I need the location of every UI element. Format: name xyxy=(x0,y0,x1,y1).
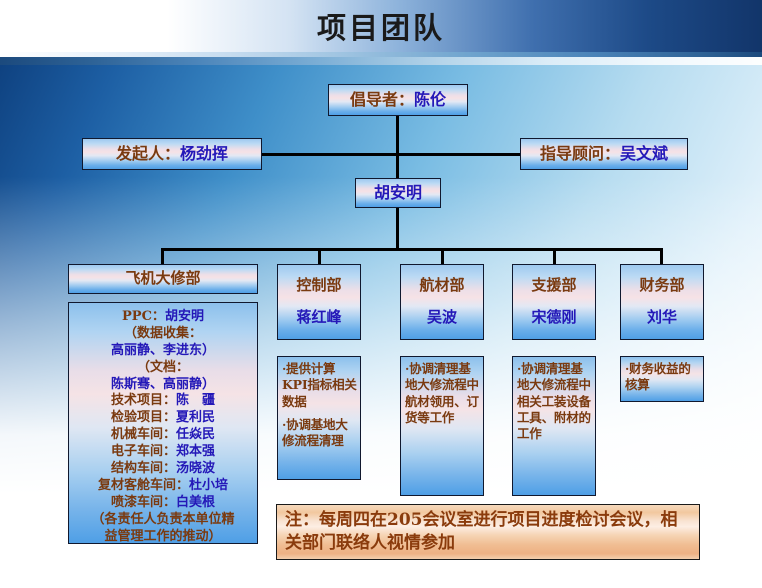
roster-line: 复材客舱车间：杜小培 xyxy=(73,478,253,495)
dept-header-aircraft[interactable]: 飞机大修部 xyxy=(68,264,258,294)
node-sponsor[interactable]: 发起人：杨劲挥 xyxy=(82,138,262,170)
bullet-item: ·财务收益的核算 xyxy=(625,361,700,394)
roster-line: （各责任人负责本单位精 xyxy=(73,512,253,529)
sponsor-name: 杨劲挥 xyxy=(180,144,228,163)
roster-label: （文档： xyxy=(137,360,189,375)
dept-header-control[interactable]: 控制部 蒋红峰 xyxy=(277,264,361,340)
project-manager-name: 胡安明 xyxy=(374,184,422,203)
slide-canvas: 项目团队 倡导者：陈伦 发起人：杨劲挥 指导顾问：吴文斌 胡安明 飞机大修部 控 xyxy=(0,0,762,588)
dept-name-support: 支援部 xyxy=(531,277,576,295)
roster-line: 高丽静、李进东） xyxy=(73,343,253,360)
roster-label: （数据收集： xyxy=(124,326,202,341)
roster-line: 电子车间：郑本强 xyxy=(73,444,253,461)
roster-value: 陈 疆 xyxy=(176,393,215,408)
roster-label: （各责任人负责本单位精 xyxy=(91,512,234,527)
dept-bullets-support: ·协调清理基地大修流程中相关工装设备工具、附材的工作 xyxy=(512,356,596,496)
roster-value: 任焱民 xyxy=(176,427,215,442)
note-box: 注：每周四在205会议室进行项目进度检讨会议，相关部门联络人视情参加 xyxy=(276,504,700,560)
connector-drop-aircraft xyxy=(161,248,164,264)
roster-line: 陈斯骞、高丽静） xyxy=(73,377,253,394)
roster-line: PPC：胡安明 xyxy=(73,309,253,326)
dept-name-finance: 财务部 xyxy=(639,277,684,295)
dept-lead-finance: 刘华 xyxy=(647,309,677,327)
roster-line: 结构车间：汤晓波 xyxy=(73,461,253,478)
roster-line: （文档： xyxy=(73,360,253,377)
connector-drop-finance xyxy=(660,248,663,264)
roster-value: 白美根 xyxy=(176,495,215,510)
roster-value: 郑本强 xyxy=(176,444,215,459)
bullet-item: ·协调基地大修流程清理 xyxy=(282,417,357,450)
roster-value: 高丽静、李进东） xyxy=(111,343,215,358)
connector-manager-vertical xyxy=(396,208,399,250)
roster-label: PPC： xyxy=(122,309,165,324)
connector-champion-vertical xyxy=(396,116,399,178)
champion-name: 陈伦 xyxy=(414,90,446,109)
roster-value: 陈斯骞、高丽静） xyxy=(111,377,215,392)
connector-sponsor-horizontal xyxy=(262,153,398,156)
dept-header-finance[interactable]: 财务部 刘华 xyxy=(620,264,704,340)
connector-drop-material xyxy=(441,248,444,264)
roster-value: 杜小培 xyxy=(189,478,228,493)
roster-line: 检验项目：夏利民 xyxy=(73,410,253,427)
dept-bullets-finance: ·财务收益的核算 xyxy=(620,356,704,402)
node-advisor[interactable]: 指导顾问：吴文斌 xyxy=(520,138,688,170)
roster-line: 机械车间：任焱民 xyxy=(73,427,253,444)
dept-header-support[interactable]: 支援部 宋德刚 xyxy=(512,264,596,340)
advisor-name: 吴文斌 xyxy=(620,144,668,163)
roster-line: 益管理工作的推动） xyxy=(73,529,253,546)
roster-label: 喷漆车间： xyxy=(111,495,176,510)
roster-label: 检验项目： xyxy=(111,410,176,425)
roster-value: 胡安明 xyxy=(165,309,204,324)
dept-detail-aircraft: PPC：胡安明（数据收集：高丽静、李进东）（文档：陈斯骞、高丽静）技术项目：陈 … xyxy=(68,302,258,544)
roster-line: 喷漆车间：白美根 xyxy=(73,495,253,512)
roster-value: 夏利民 xyxy=(176,410,215,425)
dept-lead-material: 吴波 xyxy=(427,309,457,327)
roster-label: 电子车间： xyxy=(111,444,176,459)
connector-drop-support xyxy=(553,248,556,264)
bullet-item: ·协调清理基地大修流程中航材领用、订货等工作 xyxy=(405,361,480,426)
champion-role: 倡导者： xyxy=(350,90,414,109)
title-underline-dark xyxy=(0,57,762,65)
dept-name-material: 航材部 xyxy=(419,277,464,295)
advisor-role: 指导顾问： xyxy=(540,144,620,163)
dept-bullets-control: ·提供计算KPI指标相关数据·协调基地大修流程清理 xyxy=(277,356,361,480)
roster-label: 机械车间： xyxy=(111,427,176,442)
bullet-item: ·提供计算KPI指标相关数据 xyxy=(282,361,357,410)
connector-department-bus xyxy=(161,248,662,251)
bullet-item: ·协调清理基地大修流程中相关工装设备工具、附材的工作 xyxy=(517,361,592,442)
connector-advisor-horizontal xyxy=(396,153,520,156)
dept-lead-control: 蒋红峰 xyxy=(296,309,341,327)
roster-label: 复材客舱车间： xyxy=(98,478,189,493)
roster-value: 汤晓波 xyxy=(176,461,215,476)
connector-drop-control xyxy=(318,248,321,264)
dept-name-aircraft: 飞机大修部 xyxy=(125,270,200,288)
roster-label: 结构车间： xyxy=(111,461,176,476)
note-text: 注：每周四在205会议室进行项目进度检讨会议，相关部门联络人视情参加 xyxy=(285,509,691,555)
node-project-manager[interactable]: 胡安明 xyxy=(355,178,441,208)
roster-line: （数据收集： xyxy=(73,326,253,343)
dept-header-material[interactable]: 航材部 吴波 xyxy=(400,264,484,340)
roster-label: 益管理工作的推动） xyxy=(104,529,221,544)
page-title: 项目团队 xyxy=(0,0,762,52)
dept-lead-support: 宋德刚 xyxy=(531,309,576,327)
sponsor-role: 发起人： xyxy=(116,144,180,163)
roster-line: 技术项目：陈 疆 xyxy=(73,393,253,410)
roster-label: 技术项目： xyxy=(111,393,176,408)
dept-bullets-material: ·协调清理基地大修流程中航材领用、订货等工作 xyxy=(400,356,484,496)
dept-name-control: 控制部 xyxy=(296,277,341,295)
node-champion[interactable]: 倡导者：陈伦 xyxy=(328,84,468,116)
